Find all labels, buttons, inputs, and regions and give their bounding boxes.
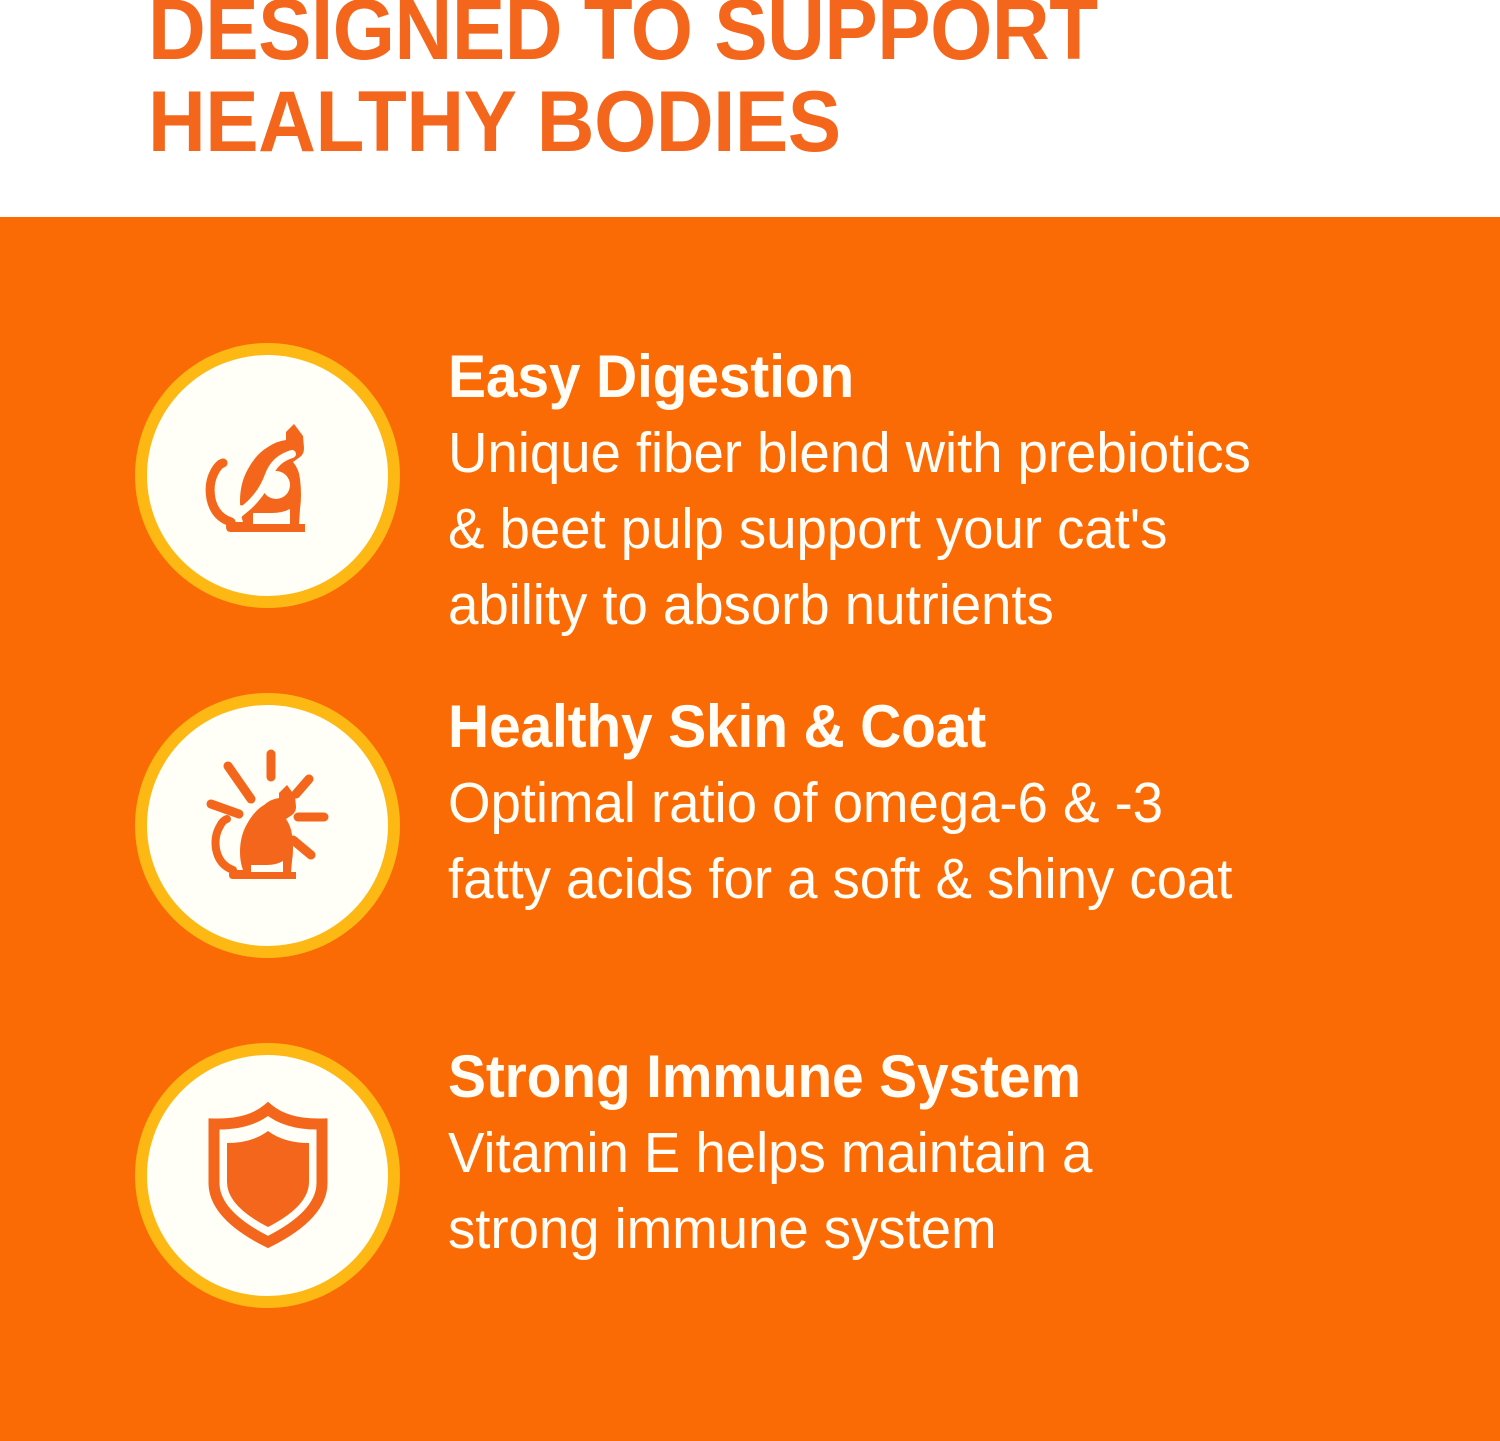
benefit-icon-badge: [135, 693, 400, 958]
benefit-icon-badge: [135, 343, 400, 608]
benefits-panel: Easy Digestion Unique fiber blend with p…: [0, 217, 1500, 1441]
product-benefits-infographic: DESIGNED TO SUPPORT HEALTHY BODIES: [0, 0, 1500, 1441]
benefit-item-strong-immune-system: Strong Immune System Vitamin E helps mai…: [0, 1043, 1500, 1308]
benefit-text-block: Easy Digestion Unique fiber blend with p…: [448, 343, 1458, 643]
header-banner: DESIGNED TO SUPPORT HEALTHY BODIES: [0, 0, 1500, 217]
cat-shine-coat-icon: [183, 741, 353, 911]
benefit-description: Optimal ratio of omega-6 & -3 fatty acid…: [448, 765, 1418, 917]
benefit-description: Vitamin E helps maintain a strong immune…: [448, 1115, 1418, 1267]
icon-disc: [147, 355, 388, 596]
icon-disc: [147, 705, 388, 946]
benefit-title: Strong Immune System: [448, 1045, 1408, 1109]
cat-digestion-icon: [183, 391, 353, 561]
benefit-icon-badge: [135, 1043, 400, 1308]
benefit-title: Healthy Skin & Coat: [448, 695, 1408, 759]
benefit-text-block: Strong Immune System Vitamin E helps mai…: [448, 1043, 1458, 1267]
benefit-text-block: Healthy Skin & Coat Optimal ratio of ome…: [448, 693, 1458, 917]
benefit-description: Unique fiber blend with prebiotics & bee…: [448, 415, 1418, 643]
shield-immune-icon: [183, 1091, 353, 1261]
benefit-item-easy-digestion: Easy Digestion Unique fiber blend with p…: [0, 343, 1500, 643]
benefit-title: Easy Digestion: [448, 345, 1408, 409]
benefit-item-healthy-skin-coat: Healthy Skin & Coat Optimal ratio of ome…: [0, 693, 1500, 958]
icon-disc: [147, 1055, 388, 1296]
page-title: DESIGNED TO SUPPORT HEALTHY BODIES: [148, 0, 1405, 168]
